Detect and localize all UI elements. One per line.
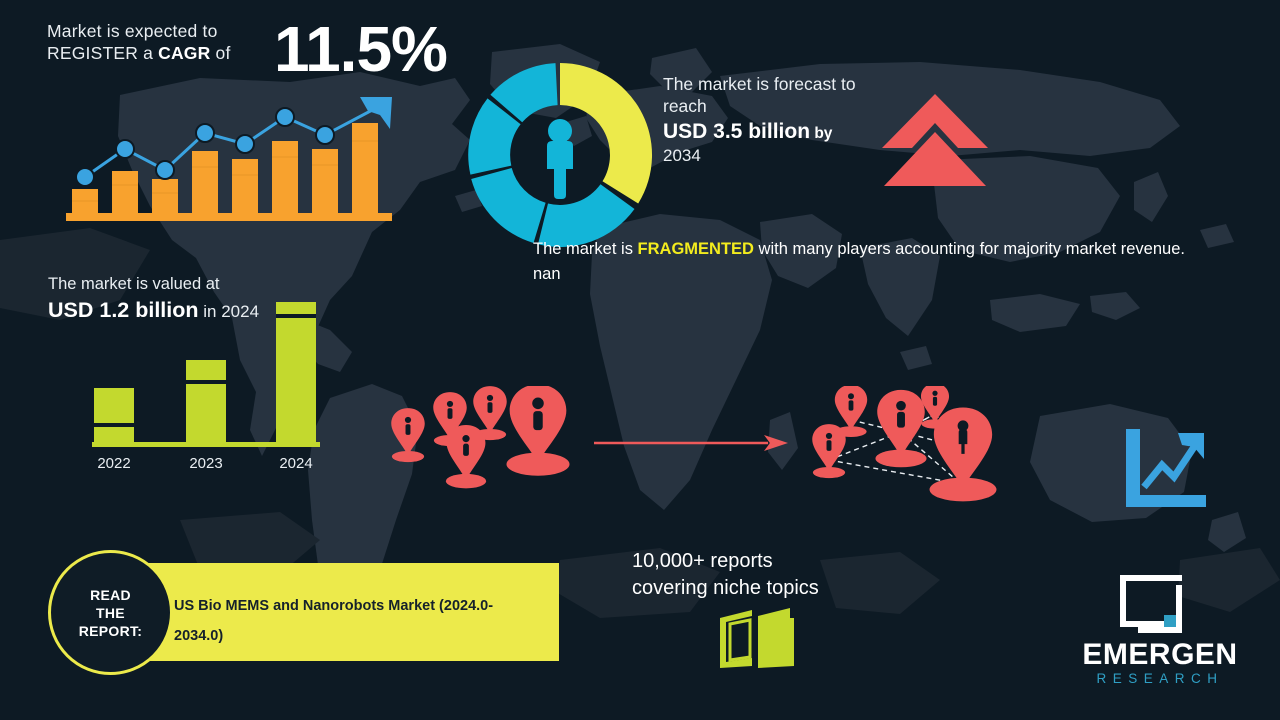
market-value-bar-chart: 2022 2023 2024 xyxy=(80,290,330,475)
bar-2023 xyxy=(186,360,226,444)
scattered-map-pins xyxy=(382,386,582,496)
forecast-value-row: USD 3.5 billion by xyxy=(663,119,893,145)
open-book-icon xyxy=(718,608,796,670)
growth-chart-arrow-icon xyxy=(1120,425,1210,513)
donut-slice-leader xyxy=(560,63,652,204)
forecast-text-block: The market is forecast to reach USD 3.5 … xyxy=(663,73,893,167)
bar-2022 xyxy=(94,388,134,444)
report-cta-strip[interactable]: US Bio MEMS and Nanorobots Market (2024.… xyxy=(134,563,559,661)
cagr-value: 11.5% xyxy=(274,17,447,81)
cagr-line2-post: of xyxy=(210,43,230,63)
forecast-value: USD 3.5 billion xyxy=(663,120,810,143)
logo-subtitle: RESEARCH xyxy=(1060,671,1260,687)
frag-highlight: FRAGMENTED xyxy=(638,240,754,258)
forecast-year: 2034 xyxy=(663,145,893,167)
map-pin-icon xyxy=(391,408,424,462)
bar-2024 xyxy=(276,302,316,444)
reports-line1: 10,000+ reports xyxy=(632,548,932,575)
infographic-canvas: Market is expected to REGISTER a CAGR of… xyxy=(0,0,1280,720)
map-pin-icon xyxy=(930,407,997,501)
report-title: US Bio MEMS and Nanorobots Market (2024.… xyxy=(174,591,524,651)
logo-wordmark: EMERGEN xyxy=(1060,639,1260,671)
growth-trend-bar-chart xyxy=(60,85,420,225)
fragmentation-text: The market is FRAGMENTED with many playe… xyxy=(533,237,1213,287)
forecast-by: by xyxy=(810,125,832,142)
badge-line1: READ xyxy=(90,587,131,603)
rightward-arrow-icon xyxy=(592,430,792,456)
market-share-donut-chart xyxy=(460,55,660,255)
donut-slice-3 xyxy=(471,168,545,243)
double-up-arrow-icon xyxy=(880,92,990,187)
reports-line2: covering niche topics xyxy=(632,575,932,602)
chart-baseline xyxy=(92,442,320,447)
frag-pre: The market is xyxy=(533,240,638,258)
forecast-lead: The market is forecast to reach xyxy=(663,73,893,117)
tick-2022: 2022 xyxy=(97,455,130,472)
reports-count-block: 10,000+ reports covering niche topics xyxy=(632,548,932,602)
tick-2024: 2024 xyxy=(279,455,312,472)
cagr-line1: Market is expected to xyxy=(47,21,218,41)
read-the-report-badge[interactable]: READ THE REPORT: xyxy=(48,550,173,675)
forecast-lead-line1: The market is forecast to xyxy=(663,74,856,94)
map-pin-icon xyxy=(507,386,570,476)
cagr-line2-pre: REGISTER a xyxy=(47,43,158,63)
cagr-line2-bold: CAGR xyxy=(158,43,210,63)
networked-map-pins xyxy=(805,386,1010,506)
cagr-text-block: Market is expected to REGISTER a CAGR of… xyxy=(47,20,467,64)
person-icon xyxy=(547,119,573,199)
tick-2023: 2023 xyxy=(189,455,222,472)
emergen-research-logo: EMERGEN RESEARCH xyxy=(1060,573,1260,698)
badge-line2: THE xyxy=(96,605,125,621)
read-the-report-label: READ THE REPORT: xyxy=(79,586,143,640)
badge-line3: REPORT: xyxy=(79,623,143,639)
map-pin-icon xyxy=(812,424,845,478)
map-pin-icon xyxy=(875,390,926,467)
map-pin-icon xyxy=(446,425,486,488)
forecast-lead-line2: reach xyxy=(663,96,707,116)
square-bracket-logo-icon xyxy=(1118,573,1184,635)
